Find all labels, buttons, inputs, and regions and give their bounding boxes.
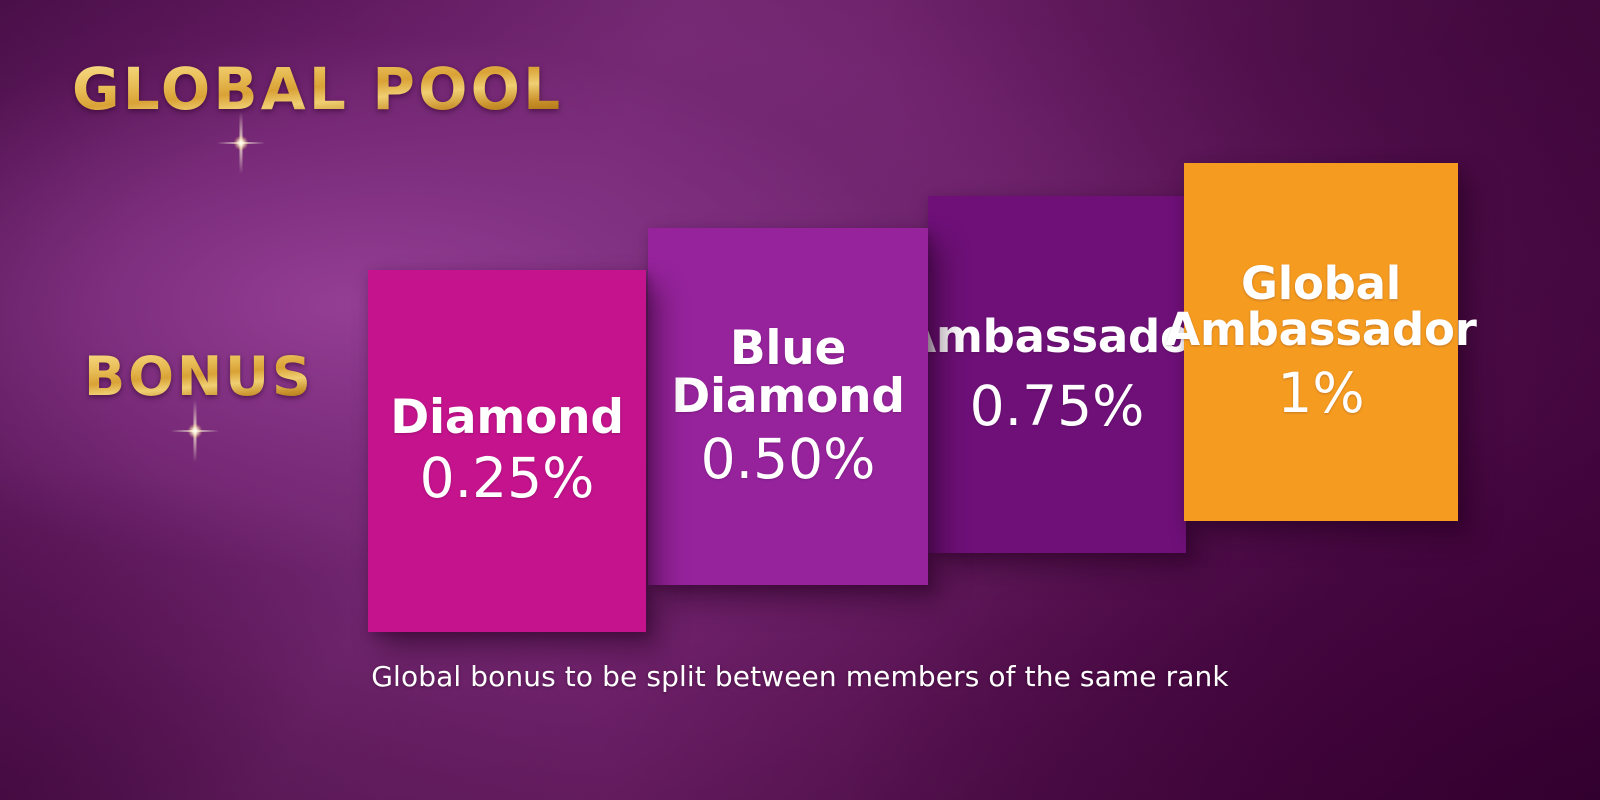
bar-blue-diamond-rank-line-2: Diamond (671, 373, 905, 421)
bar-ambassador-percent-value: 0.75% (970, 378, 1145, 436)
page-title-bonus: BONUS (84, 345, 314, 408)
bar-diamond: Diamond 0.25% (368, 270, 646, 632)
bar-global-ambassador-rank-line-2: Ambassador (1165, 307, 1476, 353)
bar-blue-diamond-rank-line-1: Blue (671, 325, 905, 373)
global-pool-bonus-infographic: GLOBAL POOL BONUS Diamond 0.25% Blue Dia… (0, 0, 1600, 800)
bar-ambassador: Ambassador 0.75% (928, 196, 1186, 553)
bar-global-ambassador-rank-line-1: Global (1165, 261, 1476, 307)
bar-diamond-percent-value: 0.25% (420, 450, 595, 508)
bar-blue-diamond-rank-label: Blue Diamond (671, 325, 905, 421)
bar-diamond-rank-label: Diamond (390, 394, 624, 442)
bar-blue-diamond: Blue Diamond 0.50% (648, 228, 928, 585)
bar-global-ambassador-percent-value: 1% (1277, 365, 1364, 423)
caption-text: Global bonus to be split between members… (0, 660, 1600, 693)
page-title-global-pool: GLOBAL POOL (72, 55, 563, 123)
bar-global-ambassador-rank-label: Global Ambassador (1165, 261, 1476, 353)
bar-global-ambassador: Global Ambassador 1% (1184, 163, 1458, 521)
bar-blue-diamond-percent-value: 0.50% (701, 431, 876, 489)
